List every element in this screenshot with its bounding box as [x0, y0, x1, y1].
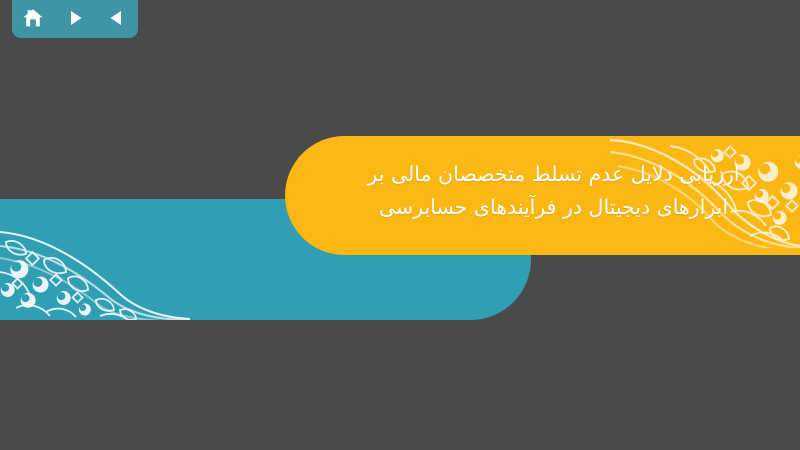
slide-title: ارزیابی دلایل عدم تسلط متخصصان مالی بر ا…	[325, 158, 782, 224]
title-banner: ارزیابی دلایل عدم تسلط متخصصان مالی بر ا…	[285, 136, 800, 255]
previous-slide-button[interactable]	[102, 5, 132, 31]
teal-arabesque-ornament	[0, 220, 190, 320]
home-button[interactable]	[18, 5, 48, 31]
triangle-right-icon	[65, 8, 85, 28]
title-line-1: ارزیابی دلایل عدم تسلط متخصصان مالی بر	[325, 158, 782, 191]
home-icon	[22, 7, 44, 29]
triangle-left-icon	[107, 8, 127, 28]
title-line-2: ابزارهای دیجیتال در فرآیندهای حسابرسی	[325, 191, 782, 224]
slide-navigation-bar	[12, 0, 138, 38]
slide-canvas: ارزیابی دلایل عدم تسلط متخصصان مالی بر ا…	[0, 0, 800, 450]
next-slide-button[interactable]	[60, 5, 90, 31]
